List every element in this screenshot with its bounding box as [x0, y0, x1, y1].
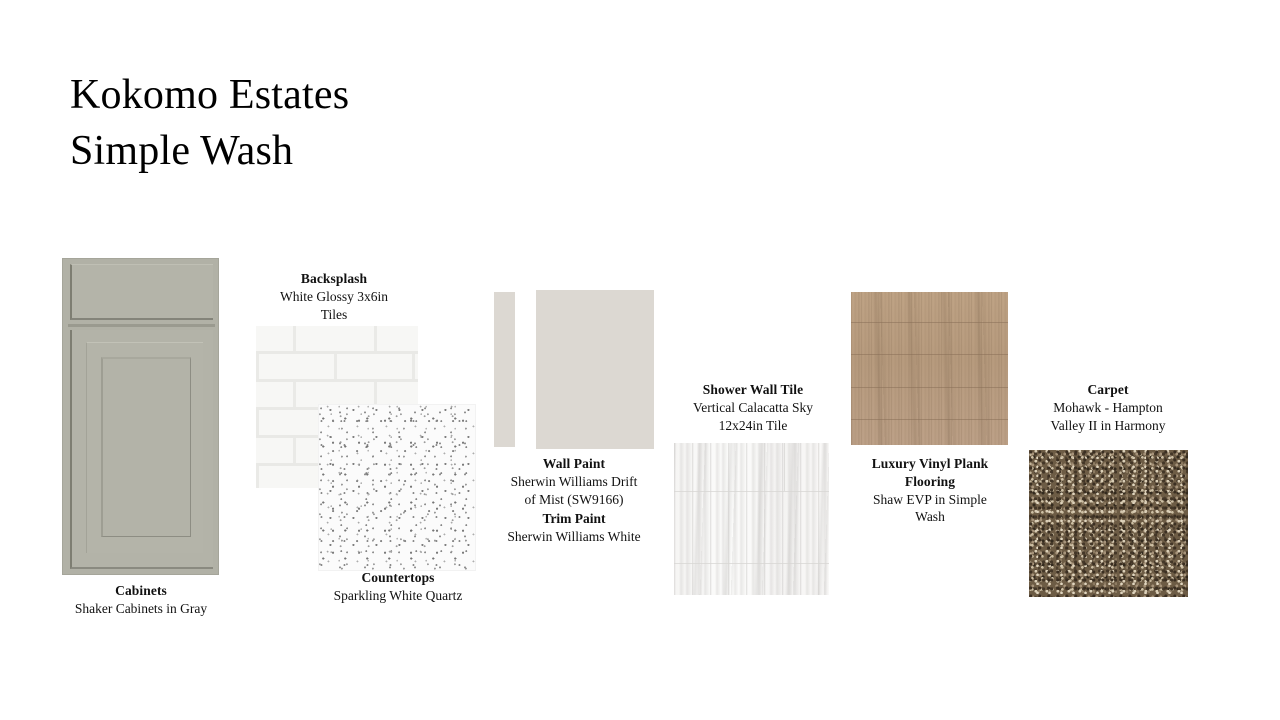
swatch-cabinets[interactable] [62, 258, 219, 575]
swatch-countertops[interactable] [318, 404, 476, 571]
tile-seam-vertical [784, 443, 785, 491]
cabinet-drawer-front [70, 264, 213, 320]
caption-subtitle-carpet: Mohawk - Hampton Valley II in Harmony [1022, 399, 1194, 435]
caption-paint: Wall Paint Sherwin Williams Drift of Mis… [490, 455, 658, 546]
plank-seam [851, 419, 1008, 420]
caption-title-backsplash: Backsplash [250, 270, 418, 288]
caption-title-wall-paint: Wall Paint [490, 455, 658, 473]
cabinet-drawer-gap [68, 324, 215, 327]
caption-title-lvp-flooring: Luxury Vinyl Plank Flooring [845, 455, 1015, 491]
caption-subtitle-wall-paint: Sherwin Williams Drift of Mist (SW9166) [490, 473, 658, 509]
caption-subtitle-lvp-flooring: Shaw EVP in Simple Wash [845, 491, 1015, 527]
tile-grout-vertical [374, 326, 377, 351]
swatch-carpet[interactable] [1029, 450, 1188, 597]
caption-title-trim-paint: Trim Paint [490, 510, 658, 528]
caption-title-carpet: Carpet [1022, 381, 1194, 399]
mood-board: Kokomo Estates Simple Wash Cabinets Shak… [0, 0, 1280, 720]
page-title: Kokomo Estates Simple Wash [70, 68, 349, 180]
swatch-lvp-flooring[interactable] [851, 292, 1008, 445]
caption-subtitle-trim-paint: Sherwin Williams White [490, 528, 658, 546]
caption-subtitle-cabinets: Shaker Cabinets in Gray [52, 600, 230, 618]
cabinet-door-frame [86, 342, 203, 553]
tile-seam-horizontal [674, 491, 829, 492]
caption-backsplash: Backsplash White Glossy 3x6in Tiles [250, 270, 418, 323]
swatch-trim-paint[interactable] [494, 292, 515, 447]
tile-grout-vertical [256, 354, 259, 379]
caption-subtitle-backsplash: White Glossy 3x6in Tiles [250, 288, 418, 324]
caption-subtitle-countertops: Sparkling White Quartz [312, 587, 484, 605]
swatch-wall-paint[interactable] [536, 290, 654, 449]
caption-cabinets: Cabinets Shaker Cabinets in Gray [52, 582, 230, 618]
caption-title-countertops: Countertops [312, 569, 484, 587]
caption-subtitle-shower-wall-tile: Vertical Calacatta Sky 12x24in Tile [668, 399, 838, 435]
cabinet-door-front [70, 330, 213, 569]
tile-grout-vertical [293, 438, 296, 463]
tile-grout-vertical [293, 326, 296, 351]
tile-grout-vertical [412, 354, 415, 379]
tile-grout-vertical [334, 354, 337, 379]
caption-title-shower-wall-tile: Shower Wall Tile [668, 381, 838, 399]
plank-seam [851, 354, 1008, 355]
tile-grout-vertical [256, 466, 259, 488]
tile-row [256, 326, 418, 354]
cabinet-door-panel [101, 357, 191, 537]
tile-grout-vertical [293, 382, 296, 407]
tile-seam-horizontal [674, 563, 829, 564]
tile-grout-vertical [256, 410, 259, 435]
tile-row [256, 354, 418, 382]
caption-countertops: Countertops Sparkling White Quartz [312, 569, 484, 605]
caption-carpet: Carpet Mohawk - Hampton Valley II in Har… [1022, 381, 1194, 434]
caption-lvp-flooring: Luxury Vinyl Plank Flooring Shaw EVP in … [845, 455, 1015, 526]
plank-seam [851, 322, 1008, 323]
caption-title-cabinets: Cabinets [52, 582, 230, 600]
caption-shower-wall-tile: Shower Wall Tile Vertical Calacatta Sky … [668, 381, 838, 434]
plank-seam [851, 387, 1008, 388]
swatch-shower-wall-tile[interactable] [674, 443, 829, 595]
